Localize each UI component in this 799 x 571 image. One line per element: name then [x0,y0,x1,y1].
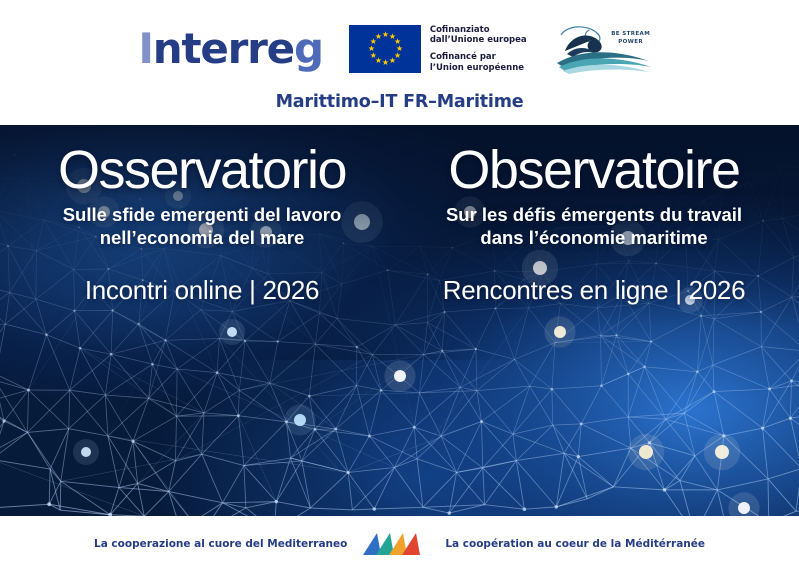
mediterranean-waves-icon [363,531,429,557]
eu-flag-icon: ★★★★★★★★★★★★ [349,25,421,73]
logo-row: Interreg ★★★★★★★★★★★★ Cofinanziato dall’… [0,18,799,80]
eu-emblem: ★★★★★★★★★★★★ Cofinanziato dall’Unione eu… [349,25,527,74]
eu-text-line2: dall’Unione europea [430,35,527,46]
footer: La cooperazione al cuore del Mediterrane… [0,516,799,571]
interreg-logo-middle: nterre [153,28,294,70]
header: Interreg ★★★★★★★★★★★★ Cofinanziato dall’… [0,0,799,125]
french-subtitle-line1: Sur les défis émergents du travail [404,204,784,227]
programme-name: Marittimo–IT FR–Maritime [0,92,799,112]
eu-flag-star: ★ [382,60,388,66]
be-stream-power-logo-text: BE STREAM POWER [603,30,659,47]
eu-emblem-text: Cofinanziato dall’Unione europea Cofinan… [430,25,527,74]
french-meetings: Rencontres en ligne | 2026 [404,276,784,305]
eu-flag-star: ★ [382,32,388,38]
bsp-line1: BE STREAM [603,30,659,38]
italian-subtitle-line1: Sulle sfide emergenti del lavoro [12,204,392,227]
footer-tagline-fr: La coopération au coeur de la Méditérran… [445,538,705,550]
footer-tagline-it: La cooperazione al cuore del Mediterrane… [94,538,347,550]
italian-title: Osservatorio [12,143,392,198]
banner-text-overlay: Osservatorio Sulle sfide emergenti del l… [0,125,799,516]
french-column: Observatoire Sur les défis émergents du … [404,143,784,305]
eu-flag-star: ★ [375,34,381,40]
eu-flag-star: ★ [370,53,376,59]
eu-flag-star: ★ [389,58,395,64]
bsp-line2: POWER [603,38,659,46]
poster-page: Interreg ★★★★★★★★★★★★ Cofinanziato dall’… [0,0,799,571]
eu-text-line4: l’Union européenne [430,63,527,74]
italian-subtitle-line2: nell’economia del mare [12,227,392,250]
interreg-logo-first-letter: I [138,28,152,70]
french-title: Observatoire [404,143,784,198]
be-stream-power-logo: BE STREAM POWER [553,21,661,77]
eu-flag-star: ★ [368,46,374,52]
italian-column: Osservatorio Sulle sfide emergenti del l… [12,143,392,305]
eu-text-line1: Cofinanziato [430,25,527,36]
eu-text-line3: Cofinancé par [430,52,527,63]
italian-meetings: Incontri online | 2026 [12,276,392,305]
french-subtitle-line2: dans l’économie maritime [404,227,784,250]
interreg-logo-last-letter: g [294,28,323,70]
hero-banner: Osservatorio Sulle sfide emergenti del l… [0,125,799,516]
interreg-logo: Interreg [138,28,323,70]
